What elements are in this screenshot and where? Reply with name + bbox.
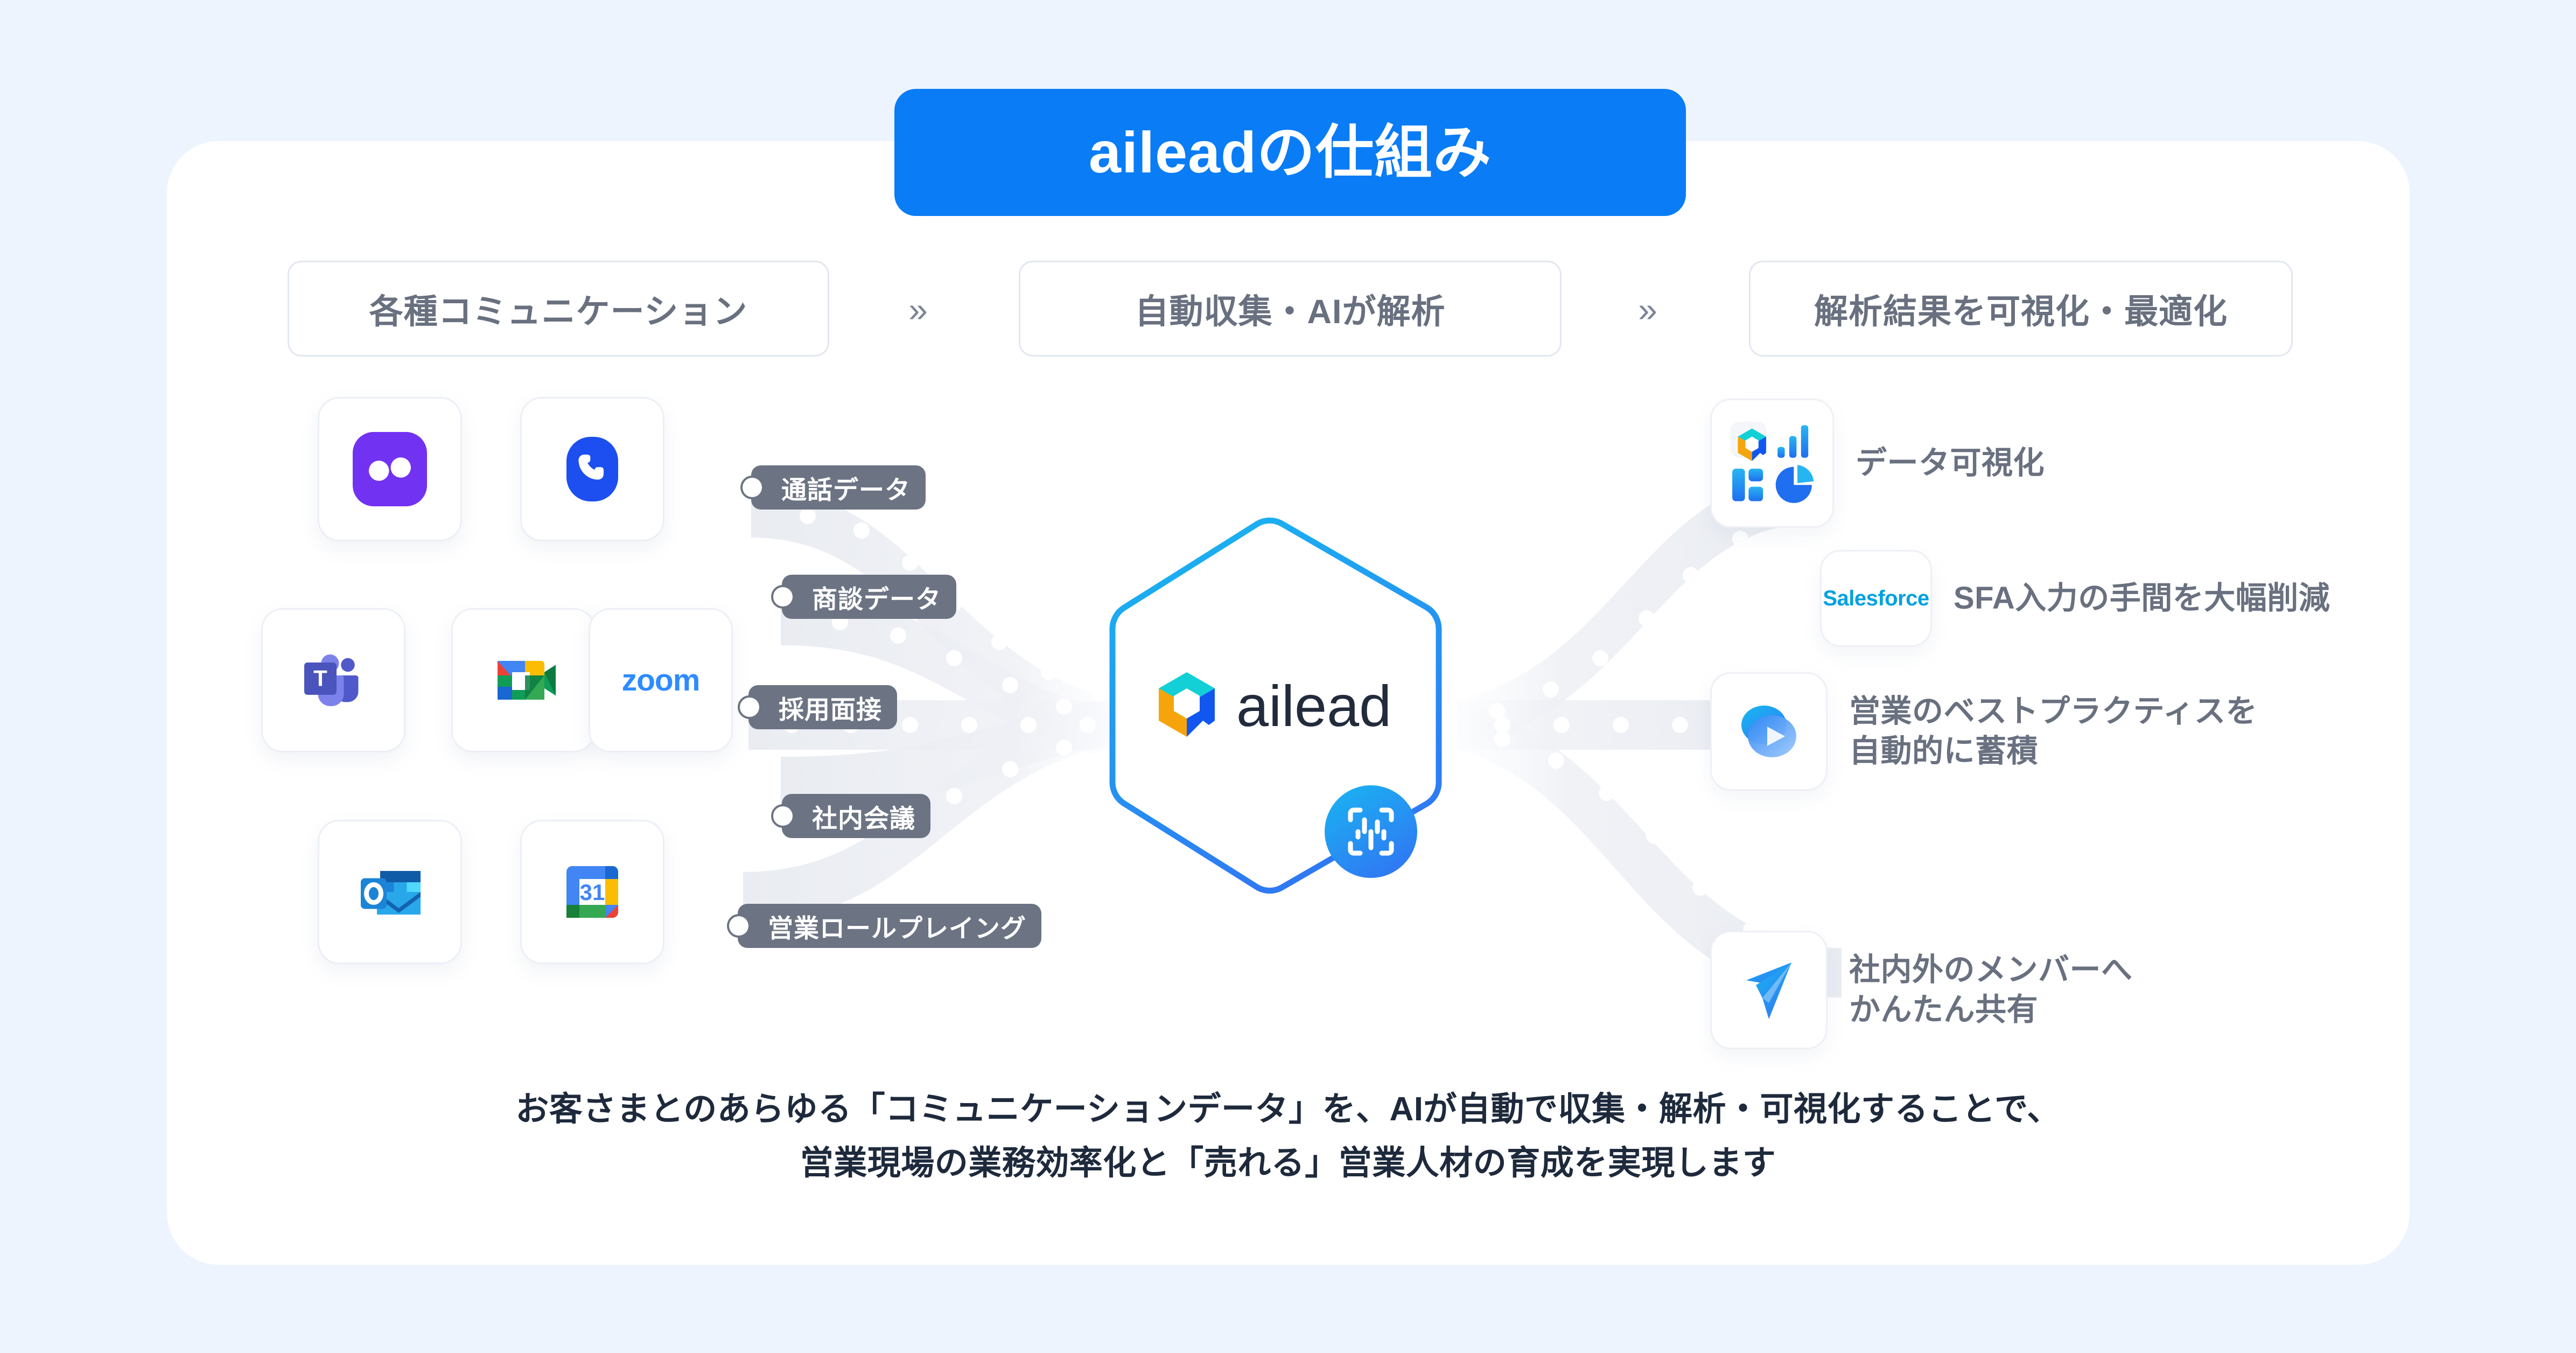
data-pill-internal-meeting: 社内会議 xyxy=(782,794,930,838)
source-card-google-calendar[interactable]: 31 xyxy=(520,820,664,964)
data-pill-call: 通話データ xyxy=(751,465,926,510)
hub-wordmark: ailead xyxy=(1236,673,1391,738)
outcome-label-salesforce: SFA入力の手間を大幅削減 xyxy=(1954,578,2330,618)
pill-dot-icon xyxy=(729,916,748,936)
microsoft-teams-icon: T xyxy=(293,640,374,721)
outcome-card-salesforce[interactable]: Salesforce xyxy=(1820,550,1932,647)
salesforce-icon: Salesforce xyxy=(1823,587,1929,611)
outcome-label-share: 社内外のメンバーへ かんたん共有 xyxy=(1849,950,2133,1030)
stage-header-communication: 各種コミュニケーション xyxy=(288,261,829,357)
dialpad-icon xyxy=(349,429,430,510)
stage-header-label: 各種コミュニケーション xyxy=(369,284,748,333)
source-card-zoom[interactable]: zoom xyxy=(589,608,733,752)
bar-chart-icon xyxy=(1777,425,1808,457)
data-pill-roleplay: 営業ロールプレイング xyxy=(738,904,1041,948)
page-title-text: aileadの仕組み xyxy=(1089,123,1492,182)
phone-icon xyxy=(552,429,633,510)
source-card-teams[interactable]: T xyxy=(261,608,405,752)
source-card-dialpad[interactable] xyxy=(318,397,462,541)
data-pill-label: 営業ロールプレイング xyxy=(768,908,1026,945)
svg-text:T: T xyxy=(313,666,327,691)
source-card-outlook[interactable] xyxy=(318,820,462,964)
zoom-wordmark: zoom xyxy=(622,662,700,698)
stage-header-visualization: 解析結果を可視化・最適化 xyxy=(1749,261,2293,357)
outcome-row-salesforce: Salesforce SFA入力の手間を大幅削減 xyxy=(1820,550,2330,647)
data-pill-label: 通話データ xyxy=(781,469,911,506)
chevron-right-icon-2: » xyxy=(1623,285,1672,334)
stage-header-label: 自動収集・AIが解析 xyxy=(1135,284,1446,333)
outcome-row-visualization: データ可視化 xyxy=(1710,399,2045,528)
svg-text:31: 31 xyxy=(580,880,605,905)
data-pill-label: 採用面接 xyxy=(779,689,882,726)
outcome-row-best-practice: 営業のベストプラクティスを 自動的に蓄積 xyxy=(1710,672,2257,791)
outcome-row-share: 社内外のメンバーへ かんたん共有 xyxy=(1710,931,2133,1049)
data-pill-label: 社内会議 xyxy=(812,798,915,835)
pill-dot-icon xyxy=(773,587,793,606)
pill-dot-icon xyxy=(740,698,759,717)
play-disc-icon xyxy=(1728,691,1809,772)
pill-dot-icon xyxy=(773,806,793,826)
infographic-root: aileadの仕組み 各種コミュニケーション » 自動収集・AIが解析 » 解析… xyxy=(0,0,2576,1353)
page-title: aileadの仕組み xyxy=(894,89,1686,216)
data-visualization-icon xyxy=(1727,418,1817,508)
data-pill-deal: 商談データ xyxy=(782,575,956,619)
send-plane-icon xyxy=(1728,950,1809,1030)
ailead-hub: ailead xyxy=(1093,512,1470,899)
outcome-label-visualization: データ可視化 xyxy=(1856,443,2045,483)
outcome-card-share[interactable] xyxy=(1710,931,1828,1049)
dashboard-tiles-icon xyxy=(1732,469,1763,501)
caption-text: お客さまとのあらゆる「コミュニケーションデータ」を、AIが自動で収集・解析・可視… xyxy=(0,1083,2576,1191)
chevron-right-icon-1: » xyxy=(894,285,942,334)
google-calendar-icon: 31 xyxy=(552,852,633,932)
pill-dot-icon xyxy=(743,478,762,497)
data-pill-interview: 採用面接 xyxy=(748,685,897,729)
outlook-icon xyxy=(349,852,430,932)
outcome-card-visualization[interactable] xyxy=(1710,399,1834,528)
google-meet-icon xyxy=(483,640,564,721)
pie-chart-icon xyxy=(1776,465,1814,503)
outcome-label-best-practice: 営業のベストプラクティスを 自動的に蓄積 xyxy=(1849,692,2257,771)
data-pill-label: 商談データ xyxy=(812,578,941,616)
source-card-google-meet[interactable] xyxy=(451,608,596,752)
source-card-phone[interactable] xyxy=(520,397,664,541)
outcome-card-best-practice[interactable] xyxy=(1710,672,1828,791)
stage-header-label: 解析結果を可視化・最適化 xyxy=(1814,284,2228,333)
stage-header-analysis: 自動収集・AIが解析 xyxy=(1019,261,1562,357)
